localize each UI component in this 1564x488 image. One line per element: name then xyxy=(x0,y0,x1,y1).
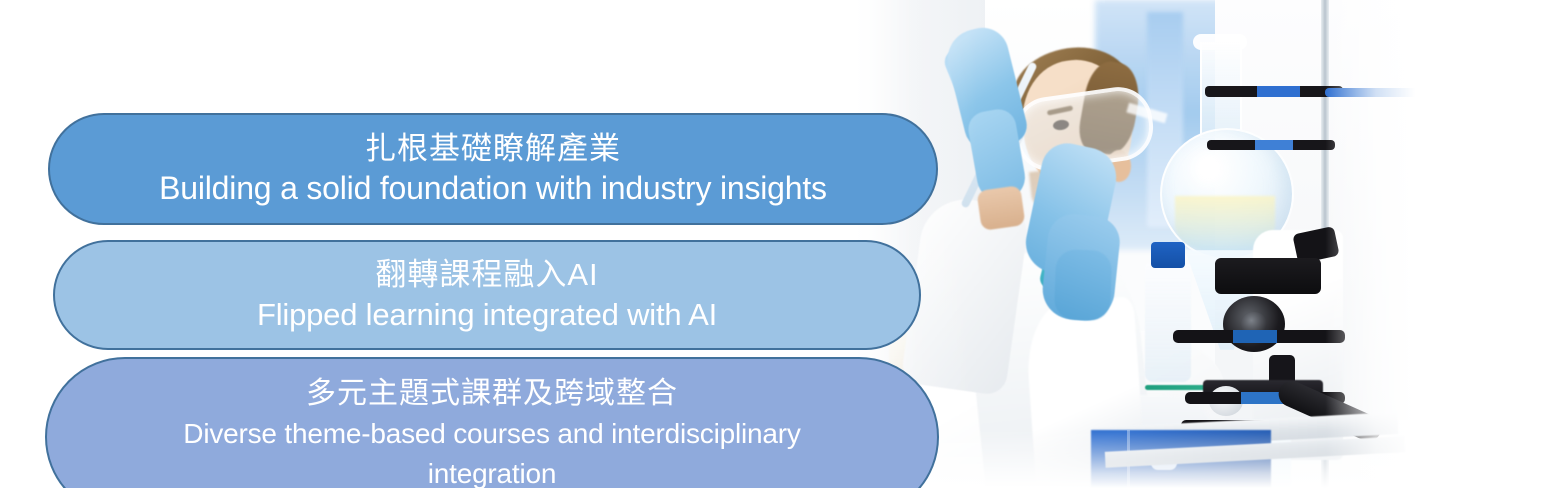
pill-building-foundation[interactable]: 扎根基礎瞭解產業 Building a solid foundation wit… xyxy=(48,113,938,225)
pill-diverse-theme-courses[interactable]: 多元主題式課群及跨域整合 Diverse theme-based courses… xyxy=(45,357,939,488)
pill-1-english-text: Building a solid foundation with industr… xyxy=(159,169,827,207)
pill-3-english-text: Diverse theme-based courses and interdis… xyxy=(142,414,842,488)
reagent-bottle xyxy=(1145,262,1191,382)
pill-1-chinese-text: 扎根基礎瞭解產業 xyxy=(365,131,621,168)
blue-glove-lower-palm xyxy=(1054,249,1112,321)
microscope-arm xyxy=(1215,258,1321,294)
pill-2-english-text: Flipped learning integrated with AI xyxy=(257,296,717,333)
stand-clamp xyxy=(1173,330,1345,343)
slide-canvas: 扎根基礎瞭解產業 Building a solid foundation wit… xyxy=(0,0,1564,488)
photo-canvas xyxy=(855,0,1415,488)
laboratory-scientist-photo xyxy=(855,0,1415,488)
reagent-bottle-cap xyxy=(1151,242,1185,268)
wrist xyxy=(976,185,1025,231)
pill-flipped-learning-ai[interactable]: 翻轉課程融入AI Flipped learning integrated wit… xyxy=(53,240,921,350)
pill-2-chinese-text: 翻轉課程融入AI xyxy=(375,257,598,294)
stand-clamp xyxy=(1205,86,1343,97)
pill-3-chinese-text: 多元主題式課群及跨域整合 xyxy=(306,376,678,411)
stand-clamp-arm xyxy=(1325,88,1415,97)
stand-clamp xyxy=(1207,140,1335,150)
